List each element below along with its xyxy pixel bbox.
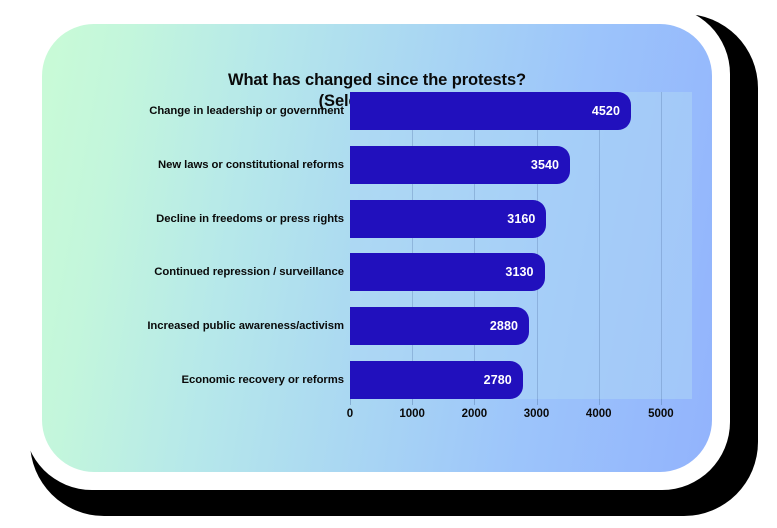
plot-area: 452035403160313028802780 (350, 92, 692, 399)
category-label: Change in leadership or government (104, 92, 344, 130)
x-tick-mark (537, 399, 538, 405)
x-tick-label: 5000 (648, 408, 674, 420)
chart-card: What has changed since the protests? (Se… (42, 24, 712, 472)
x-tick-label: 1000 (399, 408, 425, 420)
bar[interactable]: 4520 (350, 92, 631, 130)
bar-value-label: 3540 (531, 158, 570, 172)
bar-row: 2780 (350, 361, 692, 399)
x-tick-label: 3000 (524, 408, 550, 420)
bar[interactable]: 3130 (350, 253, 545, 291)
x-tick-label: 4000 (586, 408, 612, 420)
x-tick-mark (412, 399, 413, 405)
bar-row: 3160 (350, 200, 692, 238)
category-label: Decline in freedoms or press rights (104, 200, 344, 238)
bar[interactable]: 3160 (350, 200, 546, 238)
x-tick-label: 2000 (462, 408, 488, 420)
page-title: What has changed since the protests? (42, 70, 712, 91)
category-label: Economic recovery or reforms (104, 361, 344, 399)
bar-row: 4520 (350, 92, 692, 130)
x-tick-label: 0 (347, 408, 353, 420)
bar-row: 3540 (350, 146, 692, 184)
gridline (537, 92, 538, 399)
x-tick-mark (661, 399, 662, 405)
gridline (474, 92, 475, 399)
bar-row: 2880 (350, 307, 692, 345)
category-label: Continued repression / surveillance (104, 253, 344, 291)
bar-value-label: 2780 (484, 373, 523, 387)
bar-row: 3130 (350, 253, 692, 291)
bar-value-label: 3130 (505, 265, 544, 279)
bar-value-label: 2880 (490, 319, 529, 333)
gridlines (350, 92, 692, 399)
bar[interactable]: 3540 (350, 146, 570, 184)
screenshot-root: What has changed since the protests? (Se… (0, 0, 777, 528)
gridline (599, 92, 600, 399)
gridline (661, 92, 662, 399)
bar-value-label: 3160 (507, 212, 546, 226)
bar-chart: Change in leadership or governmentNew la… (104, 92, 692, 432)
x-tick-mark (599, 399, 600, 405)
category-axis-labels: Change in leadership or governmentNew la… (104, 92, 344, 399)
x-tick-mark (350, 399, 351, 405)
x-axis: 010002000300040005000 (350, 399, 692, 431)
bar[interactable]: 2780 (350, 361, 523, 399)
gridline (412, 92, 413, 399)
category-label: Increased public awareness/activism (104, 307, 344, 345)
bar-value-label: 4520 (592, 104, 631, 118)
category-label: New laws or constitutional reforms (104, 146, 344, 184)
bar[interactable]: 2880 (350, 307, 529, 345)
x-tick-mark (474, 399, 475, 405)
